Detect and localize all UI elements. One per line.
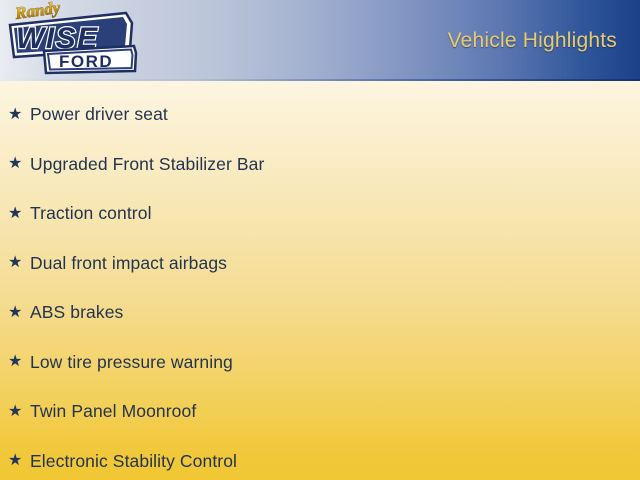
list-item-label: Electronic Stability Control: [30, 451, 640, 472]
list-item-label: Low tire pressure warning: [30, 352, 640, 373]
list-item: ★ Traction control: [0, 189, 640, 239]
star-icon: ★: [8, 255, 30, 271]
logo-ford-banner: FORD: [44, 46, 136, 73]
star-icon: ★: [8, 404, 30, 420]
list-item: ★ Dual front impact airbags: [0, 239, 640, 289]
highlights-list: ★ Power driver seat ★ Upgraded Front Sta…: [0, 90, 640, 480]
star-icon: ★: [8, 206, 30, 222]
list-item-label: Twin Panel Moonroof: [30, 401, 640, 422]
list-item: ★ Upgraded Front Stabilizer Bar: [0, 140, 640, 190]
dealership-logo[interactable]: WISE Randy FORD: [4, 1, 140, 79]
list-item-label: Dual front impact airbags: [30, 253, 640, 274]
list-item: ★ ABS brakes: [0, 288, 640, 338]
page-title: Vehicle Highlights: [448, 29, 617, 53]
list-item: ★ Power driver seat: [0, 90, 640, 140]
star-icon: ★: [8, 305, 30, 321]
star-icon: ★: [8, 453, 30, 469]
list-item-label: Traction control: [30, 203, 640, 224]
header-divider: [0, 79, 640, 81]
list-item-label: Upgraded Front Stabilizer Bar: [30, 154, 640, 175]
list-item: ★ Electronic Stability Control: [0, 437, 640, 480]
list-item-label: ABS brakes: [30, 302, 640, 323]
vehicle-highlights-slide: Vehicle Highlights WISE Randy: [0, 0, 640, 480]
list-item: ★ Twin Panel Moonroof: [0, 387, 640, 437]
star-icon: ★: [8, 107, 30, 123]
svg-text:FORD: FORD: [59, 52, 113, 71]
list-item-label: Power driver seat: [30, 104, 640, 125]
list-item: ★ Low tire pressure warning: [0, 338, 640, 388]
star-icon: ★: [8, 354, 30, 370]
star-icon: ★: [8, 156, 30, 172]
